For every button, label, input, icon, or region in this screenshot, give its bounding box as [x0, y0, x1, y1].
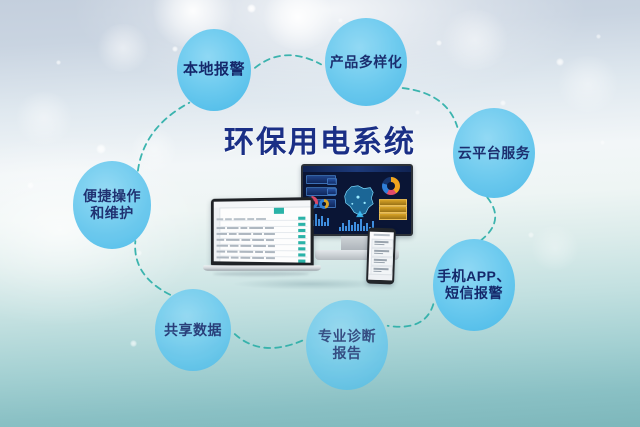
- feature-node-label-line: 报告: [318, 345, 376, 362]
- feature-node-diagnostic-report[interactable]: 专业诊断报告: [306, 300, 388, 390]
- report-row: [217, 222, 308, 227]
- report-row: [217, 246, 308, 252]
- feature-node-label: 云平台服务: [458, 145, 531, 162]
- feature-node-label-line: 便捷操作: [83, 188, 141, 205]
- feature-node-mobile-app-sms[interactable]: 手机APP、短信报警: [433, 239, 515, 331]
- phone-screen: [368, 232, 394, 281]
- feature-node-local-alarm[interactable]: 本地报警: [177, 29, 251, 111]
- dashboard-card: [327, 188, 337, 195]
- feature-node-label-line: 专业诊断: [318, 328, 376, 345]
- feature-node-label: 产品多样化: [330, 54, 403, 71]
- report-badge: [274, 208, 284, 214]
- feature-node-label-line: 和维护: [83, 205, 141, 222]
- report-row: [217, 216, 308, 222]
- dashboard-alert-panel: [379, 199, 407, 206]
- page-title: 环保用电系统: [224, 117, 416, 161]
- dashboard-card: [327, 178, 337, 185]
- dashboard-donut-right: [382, 177, 400, 195]
- dashboard-header-bar: [303, 166, 411, 172]
- dashboard-alert-panel: [379, 206, 407, 213]
- feature-node-shared-data[interactable]: 共享数据: [155, 289, 231, 371]
- feature-node-label-line: 短信报警: [437, 285, 511, 302]
- feature-node-label: 本地报警: [183, 61, 245, 79]
- feature-node-label-line: 手机APP、: [437, 268, 511, 285]
- report-row: [217, 234, 308, 239]
- phone-bottom-nav: [368, 274, 392, 281]
- feature-node-label: 手机APP、短信报警: [437, 268, 511, 301]
- report-row: [217, 240, 308, 245]
- report-toolbar: [217, 207, 306, 213]
- feature-node-label-line: 云平台服务: [458, 145, 531, 162]
- phone-app-title: [374, 234, 390, 237]
- laptop-base: [202, 265, 321, 270]
- feature-node-label-line: 本地报警: [183, 61, 245, 79]
- laptop: [203, 198, 321, 282]
- feature-node-label: 便捷操作和维护: [83, 188, 141, 221]
- dashboard-china-map: [339, 178, 377, 222]
- feature-node-label: 专业诊断报告: [318, 328, 376, 361]
- feature-node-easy-operation[interactable]: 便捷操作和维护: [73, 161, 151, 249]
- feature-node-cloud-platform[interactable]: 云平台服务: [453, 108, 535, 198]
- report-row: [217, 257, 308, 262]
- dashboard-mid-panels: [327, 178, 337, 198]
- smartphone: [367, 228, 395, 284]
- report-row: [217, 228, 308, 233]
- dashboard-alert-panel: [379, 213, 407, 220]
- laptop-contact-shadow: [213, 272, 309, 276]
- feature-node-label-line: 共享数据: [164, 322, 222, 339]
- feature-node-label-line: 产品多样化: [330, 54, 403, 71]
- promotional-poster: 本地报警产品多样化云平台服务手机APP、短信报警专业诊断报告共享数据便捷操作和维…: [0, 0, 640, 427]
- laptop-screen: [214, 200, 311, 262]
- feature-node-label: 共享数据: [164, 322, 222, 339]
- feature-node-product-diversity[interactable]: 产品多样化: [325, 18, 407, 106]
- laptop-lid: [211, 197, 314, 267]
- phone-body: [366, 228, 396, 285]
